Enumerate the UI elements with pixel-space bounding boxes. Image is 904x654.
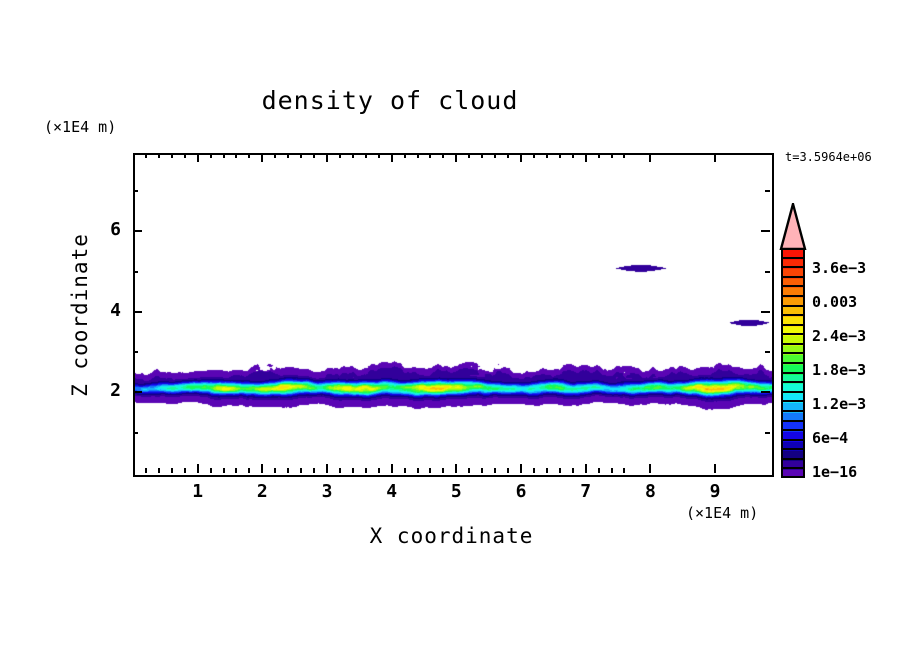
colorbar-tick-label: 1.8e−3: [812, 361, 866, 379]
colorbar-tick-label: 1.2e−3: [812, 395, 866, 413]
colorbar-tick-label: 1e−16: [812, 463, 857, 481]
colorbar-tick-label: 2.4e−3: [812, 327, 866, 345]
figure-canvas: density of cloud (×1E4 m) t=3.5964e+06 1…: [0, 0, 904, 654]
colorbar-tick-label: 6e−4: [812, 429, 848, 447]
colorbar-tick-labels: 3.6e−30.0032.4e−31.8e−31.2e−36e−41e−16: [0, 0, 904, 654]
colorbar-tick-label: 3.6e−3: [812, 259, 866, 277]
colorbar-tick-label: 0.003: [812, 293, 857, 311]
colorbar: 3.6e−30.0032.4e−31.8e−31.2e−36e−41e−16: [0, 0, 904, 654]
